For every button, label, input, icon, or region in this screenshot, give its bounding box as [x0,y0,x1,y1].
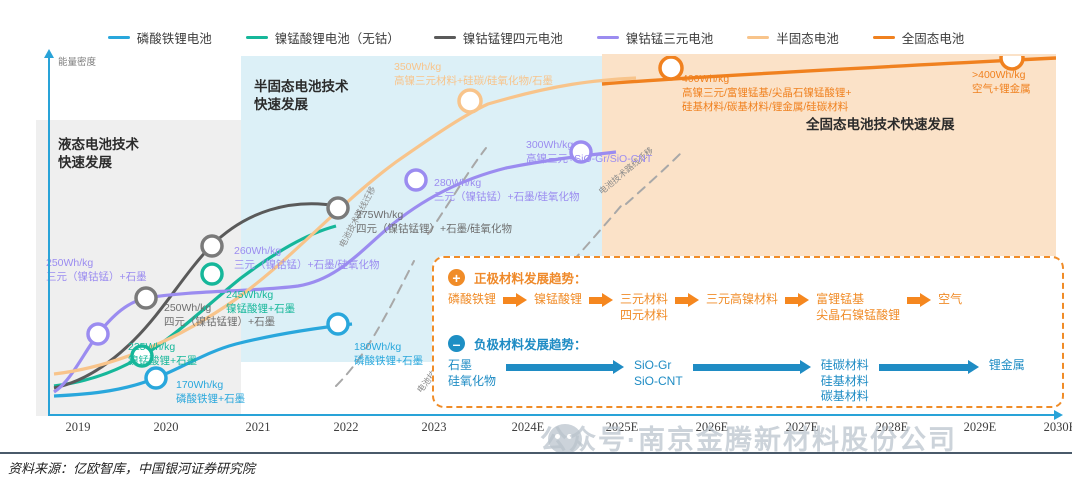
annotation-value: 225Wh/kg [128,340,197,354]
cathode-node-1-line1: 磷酸铁锂 [448,292,496,306]
marker-280-ncm [406,170,426,190]
cathode-node-1: 磷酸铁锂 [448,292,496,308]
anode-chain: 石墨 硅氧化物 SiO-Gr SiO-CNT 硅碳材料 硅基材料 碳基材料 锂金… [448,358,1052,405]
anode-node-4: 锂金属 [989,358,1025,374]
arrow-right-icon [503,293,527,307]
annotation-material-line2: 硅基材料/碳基材料/锂金属/硅碳材料 [682,100,851,114]
annotation-value: 170Wh/kg [176,378,245,392]
annotation-material: 磷酸铁锂+石墨 [354,354,423,368]
y-axis-label: 能量密度 [58,54,96,68]
arrow-right-icon [589,293,613,307]
legend-item-lnmo: 镍锰酸锂电池（无钴） [246,28,400,47]
legend-swatch-lnmo [246,36,268,39]
legend-swatch-quaternary [434,36,456,39]
cathode-trend-block: + 正极材料发展趋势： 磷酸铁锂 镍锰酸锂 三元材料 四元材料 三元高镍材料 [448,268,1052,323]
cathode-node-5-line1: 富锂锰基 [816,292,864,306]
legend-label-ncm: 镍钴锰三元电池 [626,28,714,47]
annotation-280-ncm: 280Wh/kg 三元（镍钴锰）+石墨/硅氧化物 [434,176,580,204]
marker-245-lnmo [202,264,222,284]
anode-node-2-line2: SiO-CNT [634,374,683,388]
cathode-node-2-line1: 镍锰酸锂 [534,292,582,306]
anode-node-3-line2: 硅基材料 [821,374,869,388]
annotation-value: 280Wh/kg [434,176,580,190]
cathode-node-4: 三元高镍材料 [706,292,778,308]
annotation-material: 三元（镍钴锰）+石墨 [46,270,147,284]
cathode-node-3: 三元材料 四元材料 [620,292,668,323]
annotation-material: 三元（镍钴锰）+石墨/硅氧化物 [434,190,580,204]
arrow-right-icon [785,293,809,307]
annotation-275-quaternary: 275Wh/kg 四元（镍钴锰锂）+石墨/硅氧化物 [356,208,512,236]
annotation-material: 三元（镍钴锰）+石墨/硅氧化物 [234,258,380,272]
anode-node-2: SiO-Gr SiO-CNT [634,358,683,389]
legend-item-quaternary: 镍钴锰锂四元电池 [434,28,563,47]
legend-label-lfp: 磷酸铁锂电池 [137,28,212,47]
legend-label-all-solid: 全固态电池 [902,28,965,47]
arrow-right-icon [907,293,931,307]
x-tick-2023: 2023 [422,420,447,435]
x-tick-2020: 2020 [154,420,179,435]
cathode-trend-header: + 正极材料发展趋势： [448,268,1052,287]
annotation-material: 磷酸铁锂+石墨 [176,392,245,406]
chart-legend: 磷酸铁锂电池 镍锰酸锂电池（无钴） 镍钴锰锂四元电池 镍钴锰三元电池 半固态电池… [0,26,1072,48]
marker-180-lfp [328,314,348,334]
annotation-value: 275Wh/kg [356,208,512,222]
footer-divider [0,452,1072,454]
x-axis [48,414,1056,416]
marker-260-ncm [202,236,222,256]
anode-node-3: 硅碳材料 硅基材料 碳基材料 [821,358,869,405]
anode-trend-header: – 负极材料发展趋势： [448,334,1052,353]
cathode-trend-title: 正极材料发展趋势： [474,268,587,287]
cathode-node-3-line1: 三元材料 [620,292,668,306]
chart-root: 磷酸铁锂电池 镍锰酸锂电池（无钴） 镍钴锰锂四元电池 镍钴锰三元电池 半固态电池… [0,0,1072,484]
cathode-node-3-line2: 四元材料 [620,308,668,322]
legend-swatch-semi-solid [747,36,769,39]
legend-item-lfp: 磷酸铁锂电池 [108,28,212,47]
annotation-material: 镍锰酸锂+石墨 [128,354,197,368]
anode-node-1: 石墨 硅氧化物 [448,358,496,389]
marker-350-semi [459,90,481,112]
source-note: 资料来源：亿欧智库，中国银河证券研究院 [8,458,255,477]
annotation-180-lfp: 180Wh/kg 磷酸铁锂+石墨 [354,340,423,368]
annotation-material: 高镍三元+SiO-Gr/SiO-CNT [526,152,652,166]
legend-item-all-solid: 全固态电池 [873,28,965,47]
annotation-material: 空气+锂金属 [972,82,1031,96]
cathode-node-5-line2: 尖晶石镍锰酸锂 [816,308,900,322]
x-tick-2022: 2022 [334,420,359,435]
arrow-right-icon [506,360,624,374]
legend-swatch-ncm [597,36,619,39]
annotation-material: 四元（镍钴锰锂）+石墨/硅氧化物 [356,222,512,236]
annotation-value: 260Wh/kg [234,244,380,258]
annotation-400-solid: 400Wh/kg 高镍三元/富锂锰基/尖晶石镍锰酸锂+ 硅基材料/碳基材料/锂金… [682,72,851,115]
legend-label-quaternary: 镍钴锰锂四元电池 [463,28,563,47]
x-tick-2030E: 2030E [1044,420,1072,435]
legend-label-semi-solid: 半固态电池 [776,28,839,47]
anode-node-3-line1: 硅碳材料 [821,358,869,372]
annotation-material: 高镍三元材料+硅碳/硅氧化物/石墨 [394,74,553,88]
annotation-material: 镍锰酸锂+石墨 [226,302,295,316]
arrow-right-icon [675,293,699,307]
minus-icon: – [448,335,465,352]
annotation-value: 300Wh/kg [526,138,652,152]
anode-trend-block: – 负极材料发展趋势： 石墨 硅氧化物 SiO-Gr SiO-CNT 硅碳材料 … [448,334,1052,405]
y-axis [48,56,50,414]
annotation-260-ncm: 260Wh/kg 三元（镍钴锰）+石墨/硅氧化物 [234,244,380,272]
legend-swatch-all-solid [873,36,895,39]
annotation-250-ncm: 250Wh/kg 三元（镍钴锰）+石墨 [46,256,147,284]
arrow-right-icon [879,360,979,374]
anode-node-3-line3: 碳基材料 [821,389,869,403]
marker-400-solid [660,57,682,79]
cathode-chain: 磷酸铁锂 镍锰酸锂 三元材料 四元材料 三元高镍材料 富锂锰基 [448,292,1052,323]
cathode-node-5: 富锂锰基 尖晶石镍锰酸锂 [816,292,900,323]
legend-item-semi-solid: 半固态电池 [747,28,839,47]
cathode-node-6-line1: 空气 [938,292,962,306]
legend-item-ncm: 镍钴锰三元电池 [597,28,714,47]
material-trend-inset: + 正极材料发展趋势： 磷酸铁锂 镍锰酸锂 三元材料 四元材料 三元高镍材料 [432,256,1064,408]
annotation-value: >400Wh/kg [972,68,1031,82]
annotation-170-lfp: 170Wh/kg 磷酸铁锂+石墨 [176,378,245,406]
marker-250-quaternary [136,288,156,308]
plus-icon: + [448,269,465,286]
annotation-225-lnmo: 225Wh/kg 镍锰酸锂+石墨 [128,340,197,368]
annotation-350-semi: 350Wh/kg 高镍三元材料+硅碳/硅氧化物/石墨 [394,60,553,88]
annotation-300-ncm: 300Wh/kg 高镍三元+SiO-Gr/SiO-CNT [526,138,652,166]
x-tick-2019: 2019 [66,420,91,435]
annotation-material-line1: 高镍三元/富锂锰基/尖晶石镍锰酸锂+ [682,86,851,100]
annotation-value: 250Wh/kg [46,256,147,270]
legend-label-lnmo: 镍锰酸锂电池（无钴） [275,28,400,47]
annotation-245-lnmo: 245Wh/kg 镍锰酸锂+石墨 [226,288,295,316]
x-tick-2029E: 2029E [964,420,997,435]
annotation-value: 180Wh/kg [354,340,423,354]
annotation-material: 四元（镍钴锰锂）+石墨 [164,315,275,329]
anode-node-1-line1: 石墨 [448,358,472,372]
legend-swatch-lfp [108,36,130,39]
anode-node-1-line2: 硅氧化物 [448,374,496,388]
annotation-value: 350Wh/kg [394,60,553,74]
annotation-400plus-solid: >400Wh/kg 空气+锂金属 [972,68,1031,96]
cathode-node-6: 空气 [938,292,962,308]
anode-node-2-line1: SiO-Gr [634,358,671,372]
cathode-node-4-line1: 三元高镍材料 [706,292,778,306]
marker-250-ncm [88,324,108,344]
marker-170-lfp [146,368,166,388]
annotation-value: 245Wh/kg [226,288,295,302]
marker-275-quaternary [328,198,348,218]
cathode-node-2: 镍锰酸锂 [534,292,582,308]
anode-node-4-line1: 锂金属 [989,358,1025,372]
arrow-right-icon [693,360,811,374]
x-tick-2021: 2021 [246,420,271,435]
anode-trend-title: 负极材料发展趋势： [474,334,587,353]
annotation-value: 400Wh/kg [682,72,851,86]
